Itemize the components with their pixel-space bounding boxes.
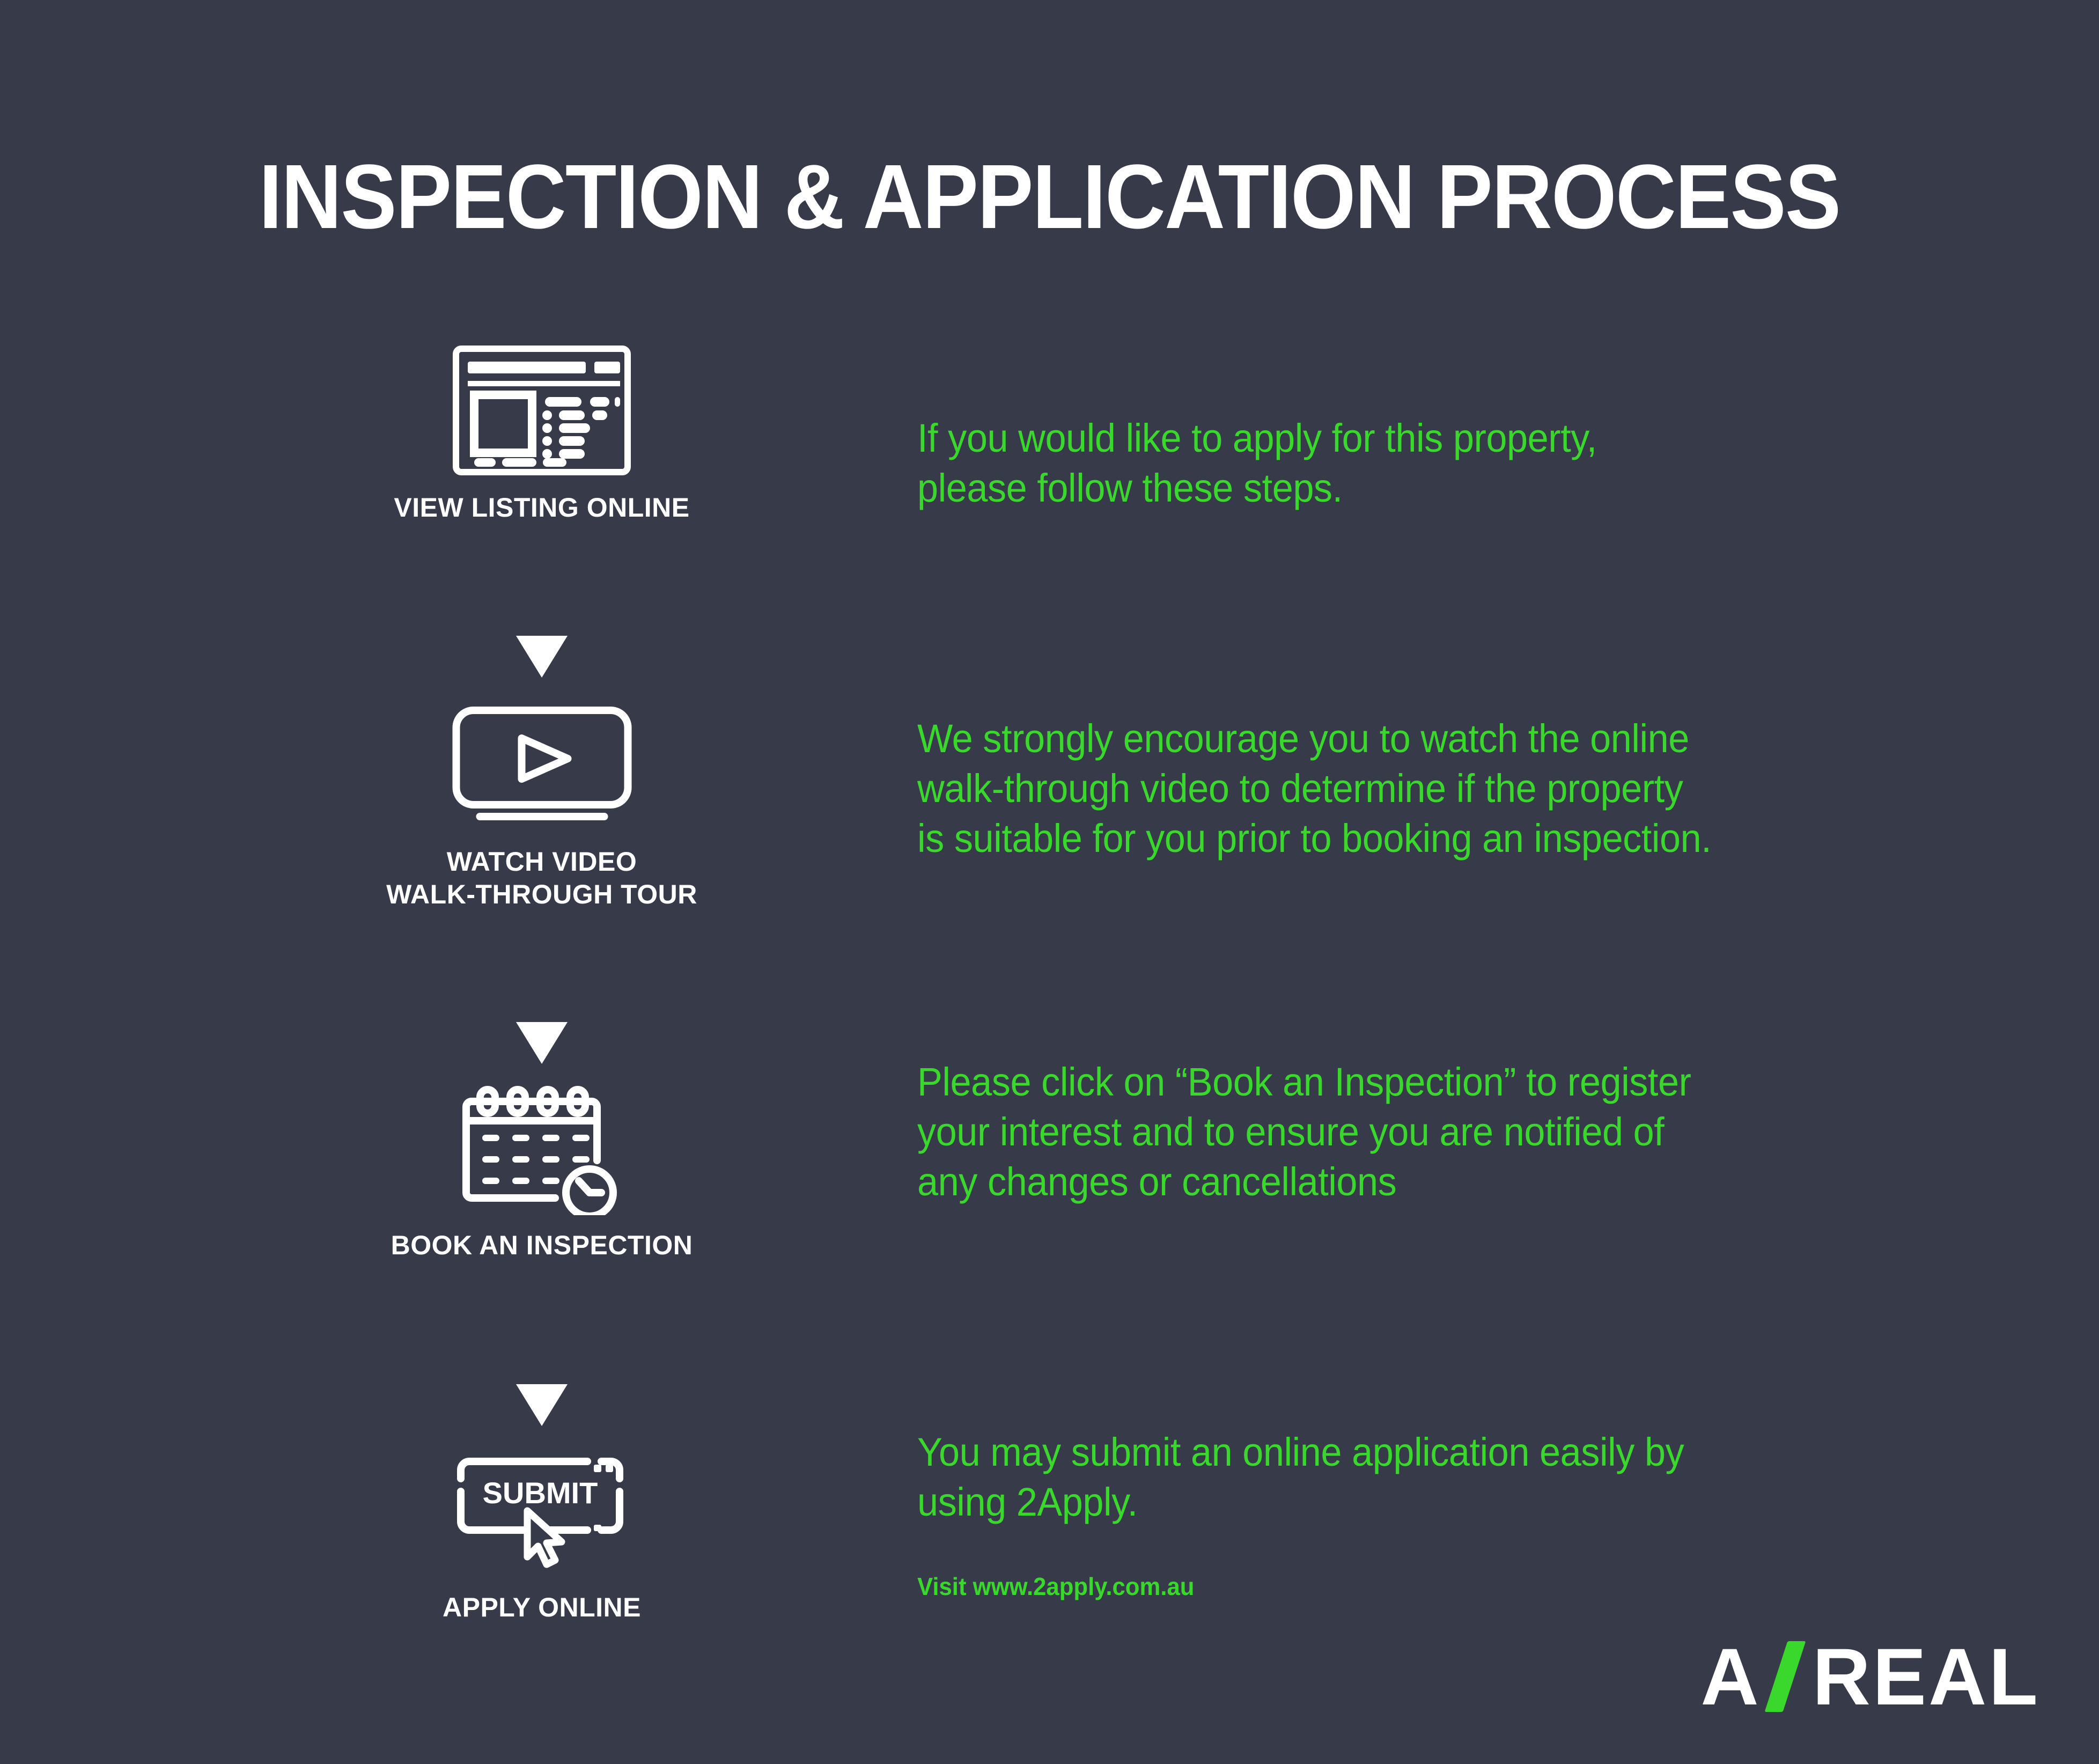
paragraph-book-inspection: Please click on “Book an Inspection” to … — [917, 1057, 1691, 1207]
page-title: INSPECTION & APPLICATION PROCESS — [84, 151, 2015, 242]
step-watch-video-walkthrough[interactable]: WATCH VIDEO WALK-THROUGH TOUR — [343, 697, 740, 911]
paragraph-apply-2apply: You may submit an online application eas… — [917, 1427, 1684, 1527]
logo-word-real: REAL — [1813, 1636, 2040, 1717]
process-columns: VIEW LISTING ONLINE WATCH VIDEO WAL — [0, 343, 2099, 1631]
step-label: WATCH VIDEO WALK-THROUGH TOUR — [343, 846, 740, 911]
step-label: BOOK AN INSPECTION — [343, 1229, 740, 1262]
infographic-poster: INSPECTION & APPLICATION PROCESS — [0, 0, 2099, 1764]
step-label: APPLY ONLINE — [343, 1591, 740, 1624]
video-monitor-play-icon — [343, 697, 740, 832]
down-arrow-icon — [343, 636, 740, 678]
step-label: VIEW LISTING ONLINE — [343, 491, 740, 524]
step-apply-online[interactable]: SUBMIT APPLY ONLINE — [343, 1443, 740, 1624]
submit-button-cursor-icon: SUBMIT — [343, 1443, 740, 1577]
step-book-an-inspection[interactable]: BOOK AN INSPECTION — [343, 1081, 740, 1262]
listing-window-icon — [343, 343, 740, 477]
brand-logo: A REAL — [1700, 1636, 2040, 1717]
down-arrow-icon — [343, 1384, 740, 1426]
step-view-listing-online[interactable]: VIEW LISTING ONLINE — [343, 343, 740, 524]
visit-2apply-link[interactable]: Visit www.2apply.com.au — [917, 1572, 1194, 1601]
paragraph-watch-video: We strongly encourage you to watch the o… — [917, 714, 1711, 864]
slash-icon — [1764, 1641, 1806, 1712]
logo-letter-a: A — [1700, 1636, 1761, 1717]
paragraph-apply-intro: If you would like to apply for this prop… — [917, 413, 1597, 513]
submit-icon-text: SUBMIT — [483, 1476, 598, 1510]
calendar-clock-icon — [343, 1081, 740, 1215]
down-arrow-icon — [343, 1022, 740, 1064]
